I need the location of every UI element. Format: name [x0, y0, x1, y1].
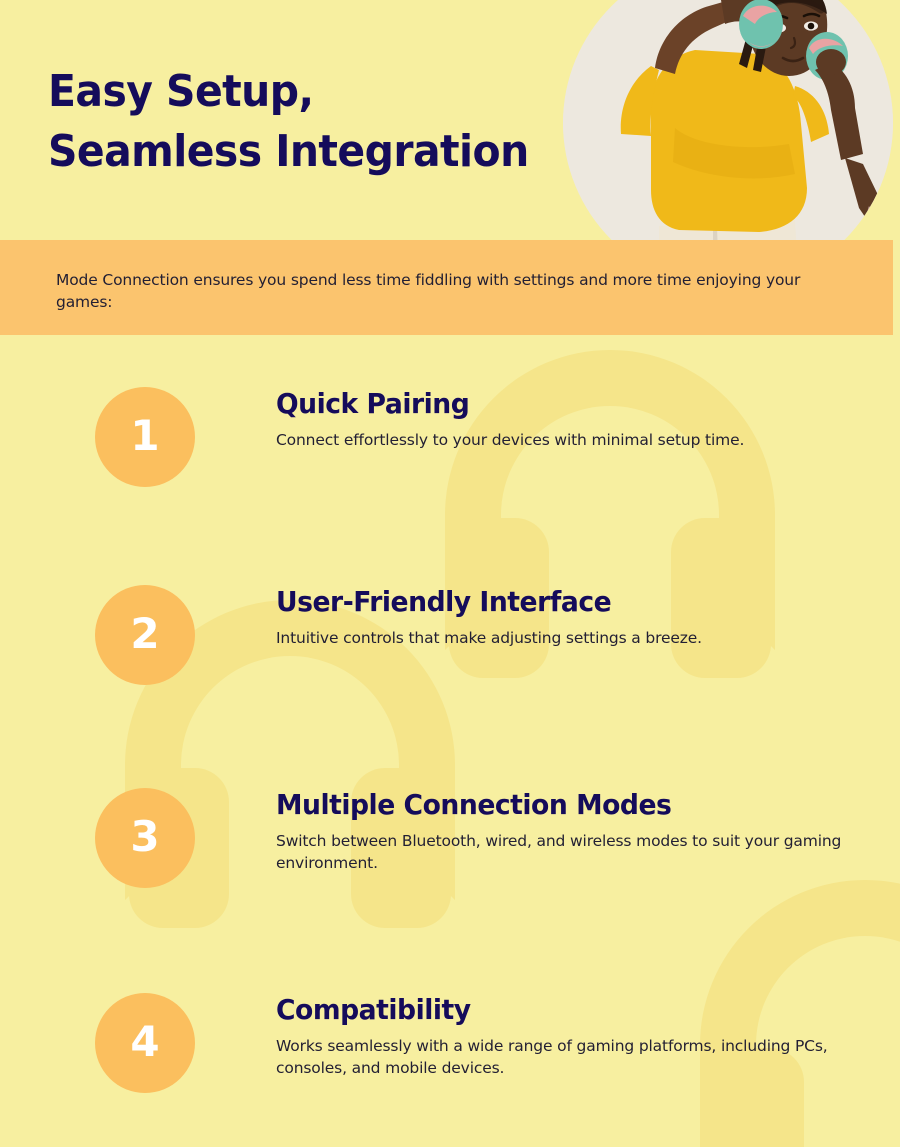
- feature-description: Works seamlessly with a wide range of ga…: [276, 1035, 872, 1079]
- feature-content: User-Friendly Interface Intuitive contro…: [276, 585, 872, 649]
- feature-number-badge: 3: [95, 788, 195, 888]
- feature-title: Compatibility: [276, 993, 842, 1027]
- feature-title: Quick Pairing: [276, 387, 842, 421]
- intro-text: Mode Connection ensures you spend less t…: [56, 269, 846, 313]
- feature-number-badge: 1: [95, 387, 195, 487]
- feature-title: User-Friendly Interface: [276, 585, 842, 619]
- page-title: Easy Setup, Seamless Integration: [48, 62, 532, 182]
- intro-banner: Mode Connection ensures you spend less t…: [0, 240, 893, 335]
- feature-content: Compatibility Works seamlessly with a wi…: [276, 993, 872, 1079]
- feature-description: Intuitive controls that make adjusting s…: [276, 627, 872, 649]
- poster-canvas: Easy Setup, Seamless Integration Mode Co…: [0, 0, 900, 1147]
- hero-section: Easy Setup, Seamless Integration: [0, 0, 900, 240]
- feature-description: Switch between Bluetooth, wired, and wir…: [276, 830, 872, 874]
- feature-content: Multiple Connection Modes Switch between…: [276, 788, 872, 874]
- feature-description: Connect effortlessly to your devices wit…: [276, 429, 872, 451]
- feature-number-badge: 4: [95, 993, 195, 1093]
- feature-number-badge: 2: [95, 585, 195, 685]
- feature-content: Quick Pairing Connect effortlessly to yo…: [276, 387, 872, 451]
- feature-title: Multiple Connection Modes: [276, 788, 842, 822]
